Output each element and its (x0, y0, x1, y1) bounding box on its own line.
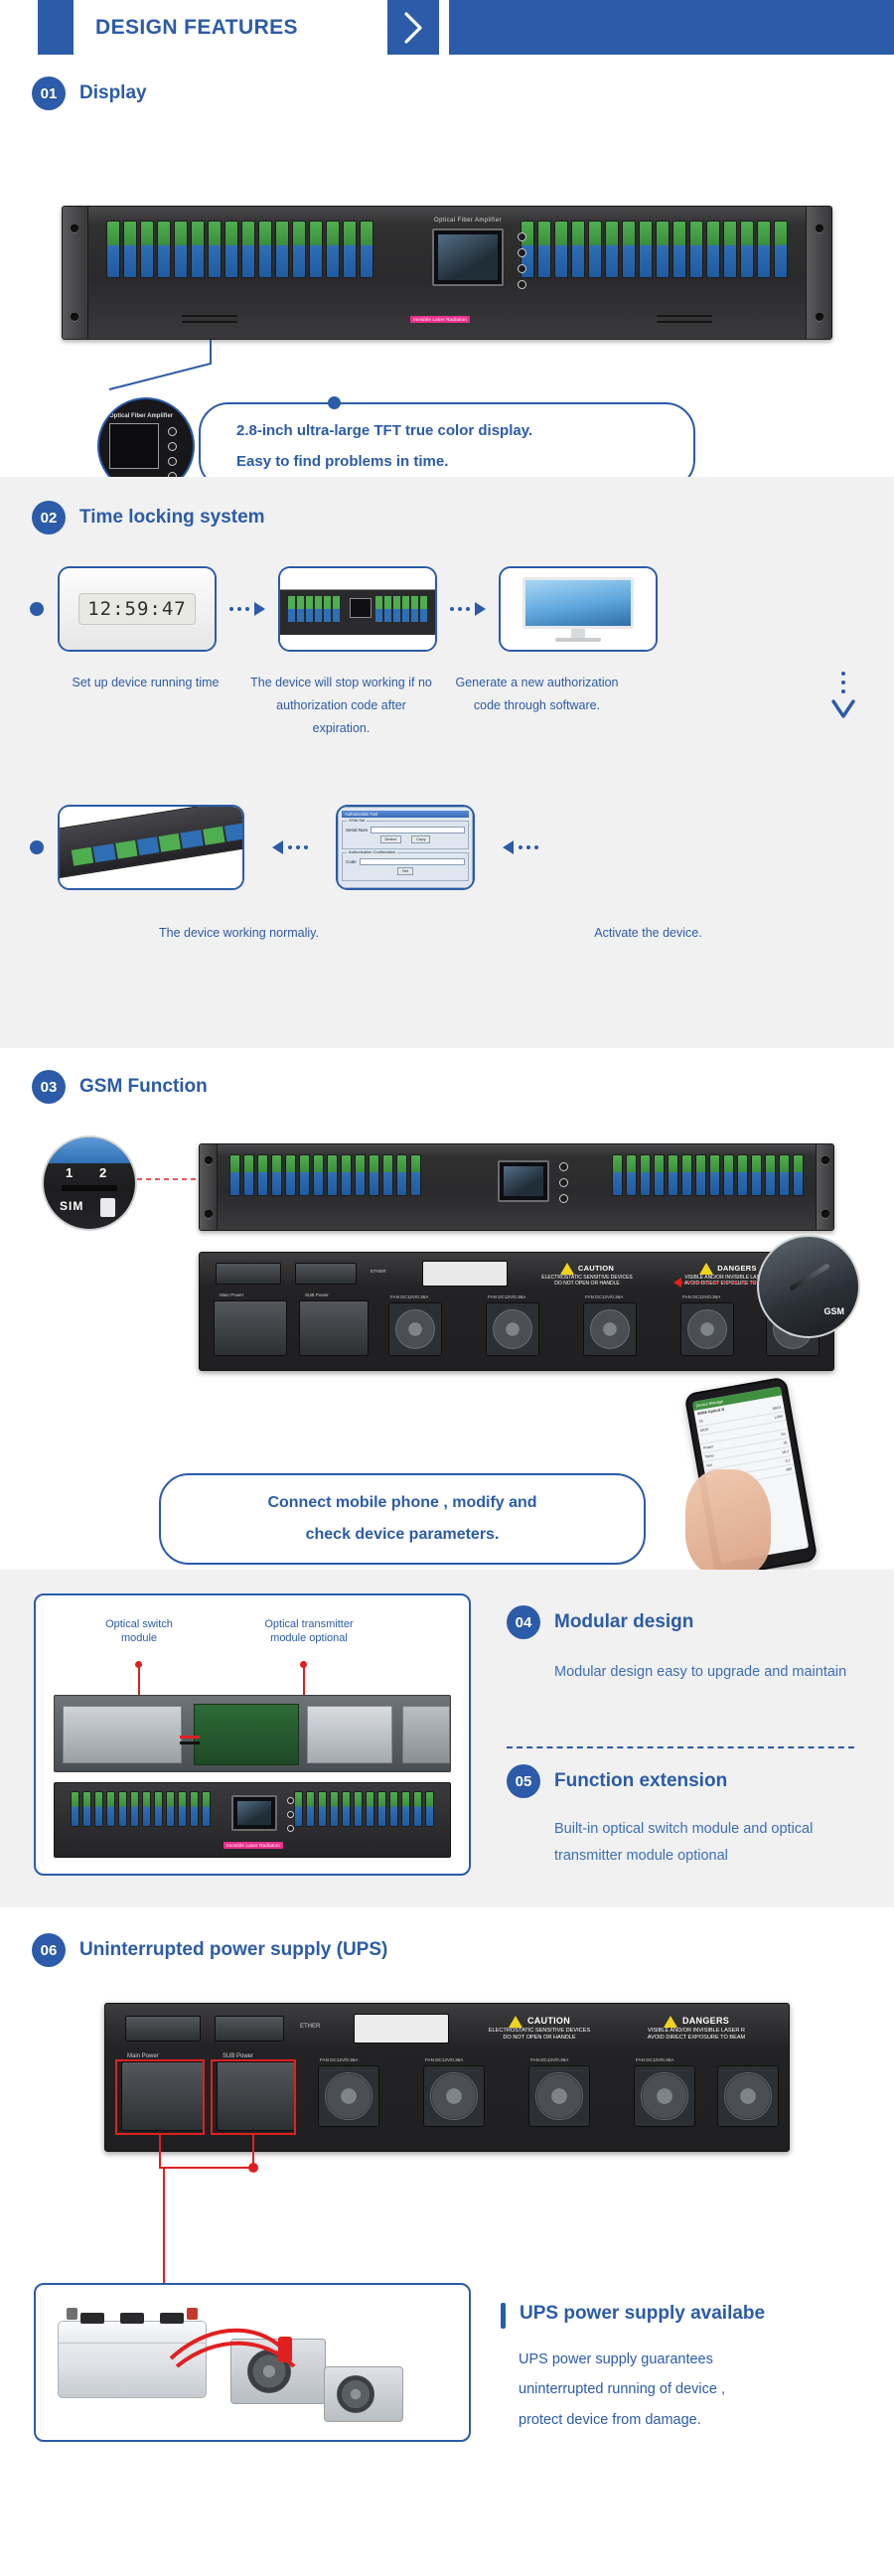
section-modular-design: Optical switch module Optical transmitte… (0, 1570, 894, 1907)
flow-row-2: Authorization Tool GSM Set Serial Num De… (30, 805, 566, 890)
sub-power-socket (299, 1300, 369, 1356)
section-display: 01 Display Optical Fiber (0, 55, 894, 477)
section-01-title: Display (79, 82, 147, 104)
gsm-callout-bubble: Connect mobile phone , modify and check … (159, 1473, 646, 1565)
section-04-title: Modular design (554, 1611, 693, 1633)
ups-warning-triangle-icon (509, 2016, 522, 2028)
section-03-title: GSM Function (79, 1076, 208, 1098)
flow-start-dot (30, 602, 44, 616)
flow-end-dot (30, 840, 44, 854)
sim-slot-1-number: 1 (66, 1165, 73, 1180)
gsm-antenna-closeup: GSM (757, 1235, 860, 1338)
flow-card-timer: 12:59:47 (58, 566, 217, 652)
dialog-group-gsm: GSM Set Serial Num Detect Copy (342, 821, 469, 849)
ups-connector-line (149, 2168, 179, 2291)
inset-brand-label: Optical Fiber Amplifier (109, 413, 173, 419)
ups-heading: UPS power supply availabe (520, 2303, 765, 2329)
dialog-group2-label: Authorization Confirmation (347, 849, 397, 854)
header-accent-block-right (449, 0, 894, 55)
section-gsm-function: 03 GSM Function 1 2 SIM (0, 1048, 894, 1570)
pcb-board (194, 1704, 299, 1765)
flow-arrow-2 (450, 602, 486, 616)
flow-row-1: 12:59:47 (30, 566, 658, 652)
flow-caption-5-wrap: Activate the device. (556, 922, 740, 945)
fan-2 (486, 1302, 539, 1356)
optical-transmitter-module (307, 1706, 392, 1763)
callout-line-1: 2.8-inch ultra-large TFT true color disp… (236, 415, 693, 447)
flow-card-device-normal (58, 805, 244, 890)
flow-arrow-1 (229, 602, 265, 616)
section-05-block: 05 Function extension Built-in optical s… (507, 1764, 882, 1870)
ups-fan-label-3: FAN DC12V/0.36A (530, 2057, 568, 2062)
fan-label-3: FAN DC12V/0.36A (585, 1294, 623, 1299)
rack-ear-right (806, 207, 831, 339)
section-05-badge: 05 (507, 1764, 540, 1798)
fan-label-1: FAN DC12V/0.36A (390, 1294, 428, 1299)
ups-fan-5 (717, 2065, 779, 2127)
dialog-group1-label: GSM Set (347, 818, 367, 823)
gsm-front-panel (199, 1143, 834, 1231)
sim-label: SIM (60, 1199, 83, 1213)
fan-3 (583, 1302, 637, 1356)
dialog-group-auth: Authorization Confirmation Code Set (342, 852, 469, 881)
timer-value: 12:59:47 (78, 593, 196, 625)
dialog-serial-label: Serial Num (346, 828, 368, 833)
dialog-detect-button[interactable]: Detect (380, 835, 402, 843)
antenna-leader-line (671, 1275, 755, 1290)
authorization-dialog-art: Authorization Tool GSM Set Serial Num De… (338, 807, 473, 888)
chassis-internal-view (54, 1695, 451, 1772)
flow-caption-3: Generate a new authorization code throug… (445, 672, 629, 740)
ups-body-line-2: uninterrupted running of device , (519, 2374, 872, 2404)
gsm-back-panel: ETHER CAUTION ELECTROSTATIC SENSITIVE DE… (199, 1252, 834, 1371)
lead-line-right (303, 1661, 305, 1697)
modular-front-display (231, 1795, 277, 1831)
front-indicator-leds (518, 232, 526, 289)
section-06-title: Uninterrupted power supply (UPS) (79, 1939, 387, 1961)
hand-art (685, 1469, 771, 1577)
section-05-head: 05 Function extension (507, 1764, 882, 1798)
page-title: DESIGN FEATURES (95, 16, 298, 40)
ups-body-line-1: UPS power supply guarantees (519, 2345, 872, 2374)
flow-arrow-4 (503, 840, 538, 854)
section-06-head: 06 Uninterrupted power supply (UPS) (0, 1907, 894, 1967)
flow-caption-5: Activate the device. (556, 922, 740, 945)
main-power-socket (214, 1300, 287, 1356)
ups-cable-art (155, 2315, 334, 2424)
flow-caption-1: Set up device running time (54, 672, 237, 740)
flow-caption-4-wrap: The device working normaliy. (147, 922, 331, 945)
gsm-callout-line-2: check device parameters. (306, 1519, 500, 1551)
fan-1 (388, 1302, 442, 1356)
sim-slot-closeup: 1 2 SIM (42, 1136, 137, 1231)
fan-4 (680, 1302, 734, 1356)
header-title-box: DESIGN FEATURES (74, 0, 320, 55)
sub-power-label: SUB Power (305, 1292, 329, 1297)
lcd-timer-art: 12:59:47 (60, 568, 215, 650)
dialog-set-button[interactable]: Set (397, 867, 413, 875)
laser-triangle-icon (699, 1263, 713, 1275)
section-02-title: Time locking system (79, 507, 265, 529)
laser-warning-label: Invisible Laser Radiation (410, 316, 470, 323)
section-ups: 06 Uninterrupted power supply (UPS) ETHE… (0, 1907, 894, 2477)
section-01-badge: 01 (32, 76, 66, 110)
optical-switch-module-label: Optical switch module (79, 1617, 199, 1646)
optical-port-bank-left (106, 221, 373, 278)
optical-switch-module (63, 1706, 182, 1763)
ups-fan-3 (528, 2065, 590, 2127)
section-05-title: Function extension (554, 1770, 727, 1792)
ups-fan-4 (634, 2065, 695, 2127)
gsm-front-display (498, 1160, 549, 1202)
section-04-block: 04 Modular design Modular design easy to… (507, 1605, 852, 1686)
tft-display-screen (432, 228, 504, 286)
modular-laser-label: Invisible Laser Radiation (223, 1842, 283, 1849)
flow-captions-1: Set up device running time The device wi… (26, 672, 629, 740)
section-06-badge: 06 (32, 1933, 66, 1967)
ups-laser-triangle-icon (664, 2016, 677, 2028)
ups-body: UPS power supply guarantees uninterrupte… (519, 2345, 872, 2435)
callout-anchor-dot (328, 396, 341, 409)
gsm-antenna-label: GSM (823, 1306, 844, 1316)
dialog-serial-input[interactable] (371, 827, 465, 833)
flow-card-activate: Authorization Tool GSM Set Serial Num De… (336, 805, 475, 890)
section-01-head: 01 Display (0, 55, 894, 110)
section-03-head: 03 GSM Function (0, 1048, 894, 1104)
warning-triangle-icon (560, 1263, 574, 1275)
page-header: DESIGN FEATURES (0, 0, 894, 55)
sim-slot-2-number: 2 (99, 1165, 106, 1180)
flow-card-device-stop (278, 566, 437, 652)
caution-warning: CAUTION ELECTROSTATIC SENSITIVE DEVICES … (527, 1263, 647, 1288)
section-03-badge: 03 (32, 1070, 66, 1104)
section-04-body: Modular design easy to upgrade and maint… (554, 1659, 852, 1686)
inverter-art-2 (324, 2366, 403, 2422)
section-time-locking: 02 Time locking system 12:59:47 (0, 477, 894, 1048)
flow-card-software (499, 566, 658, 652)
section-divider (507, 1746, 854, 1748)
modular-photo-card: Optical switch module Optical transmitte… (34, 1593, 471, 1876)
ups-heading-rule (501, 2303, 506, 2329)
dialog-copy-button[interactable]: Copy (411, 835, 430, 843)
lead-line-left (138, 1661, 140, 1697)
callout-leader-line (99, 338, 417, 397)
flow-arrow-down (830, 672, 856, 720)
main-power-label: Main Power (220, 1292, 243, 1297)
flow-caption-2: The device will stop working if no autho… (249, 672, 433, 740)
flow-caption-4: The device working normaliy. (147, 922, 331, 945)
mobile-phone-art: Device Manage WDM-Optical N TA18/03 MODL… (699, 1384, 803, 1571)
ups-photo-card (34, 2283, 471, 2442)
optical-transmitter-module-label: Optical transmitter module optional (234, 1617, 383, 1646)
ups-heading-row: UPS power supply availabe (501, 2303, 765, 2329)
dialog-titlebar: Authorization Tool (342, 811, 469, 818)
ether-label: ETHER (371, 1269, 386, 1274)
monitor-art (501, 568, 656, 650)
ups-fan-label-4: FAN DC12V/0.36A (636, 2057, 673, 2062)
amplifier-front-panel: Optical Fiber Amplifier Invisible Laser … (62, 206, 832, 340)
product-feature-page: DESIGN FEATURES 01 Display (0, 0, 894, 2477)
dialog-code-label: Code (346, 859, 357, 864)
section-02-head: 02 Time locking system (0, 477, 894, 534)
optical-port-bank-right (521, 221, 788, 278)
gsm-callout-line-1: Connect mobile phone , modify and (267, 1487, 536, 1519)
fan-label-2: FAN DC12V/0.36A (488, 1294, 525, 1299)
chevron-right-icon (387, 0, 439, 55)
flow-arrow-3 (272, 840, 308, 854)
section-05-body: Built-in optical switch module and optic… (554, 1816, 882, 1870)
sim-leader-line (137, 1171, 207, 1187)
section-02-badge: 02 (32, 501, 66, 534)
ups-ether-label: ETHER (300, 2024, 320, 2030)
chassis-brand-label: Optical Fiber Amplifier (434, 218, 502, 224)
sim-card-chip (100, 1198, 115, 1217)
rack-ear-left (63, 207, 88, 339)
section-04-badge: 04 (507, 1605, 540, 1639)
fan-label-4: FAN DC12V/0.36A (682, 1294, 720, 1299)
section-04-head: 04 Modular design (507, 1605, 852, 1639)
front-face-strip: Invisible Laser Radiation (54, 1782, 451, 1858)
dialog-code-input[interactable] (360, 858, 465, 865)
ups-danger-warning: DANGERS VISIBLE AND/OR INVISIBLE LASER R… (618, 2016, 775, 2042)
header-accent-block-left (38, 0, 74, 55)
ups-caution-warning: CAUTION ELECTROSTATIC SENSITIVE DEVICES … (473, 2016, 606, 2042)
callout-line-2: Easy to find problems in time. (236, 446, 693, 478)
ups-body-line-3: protect device from damage. (519, 2405, 872, 2435)
